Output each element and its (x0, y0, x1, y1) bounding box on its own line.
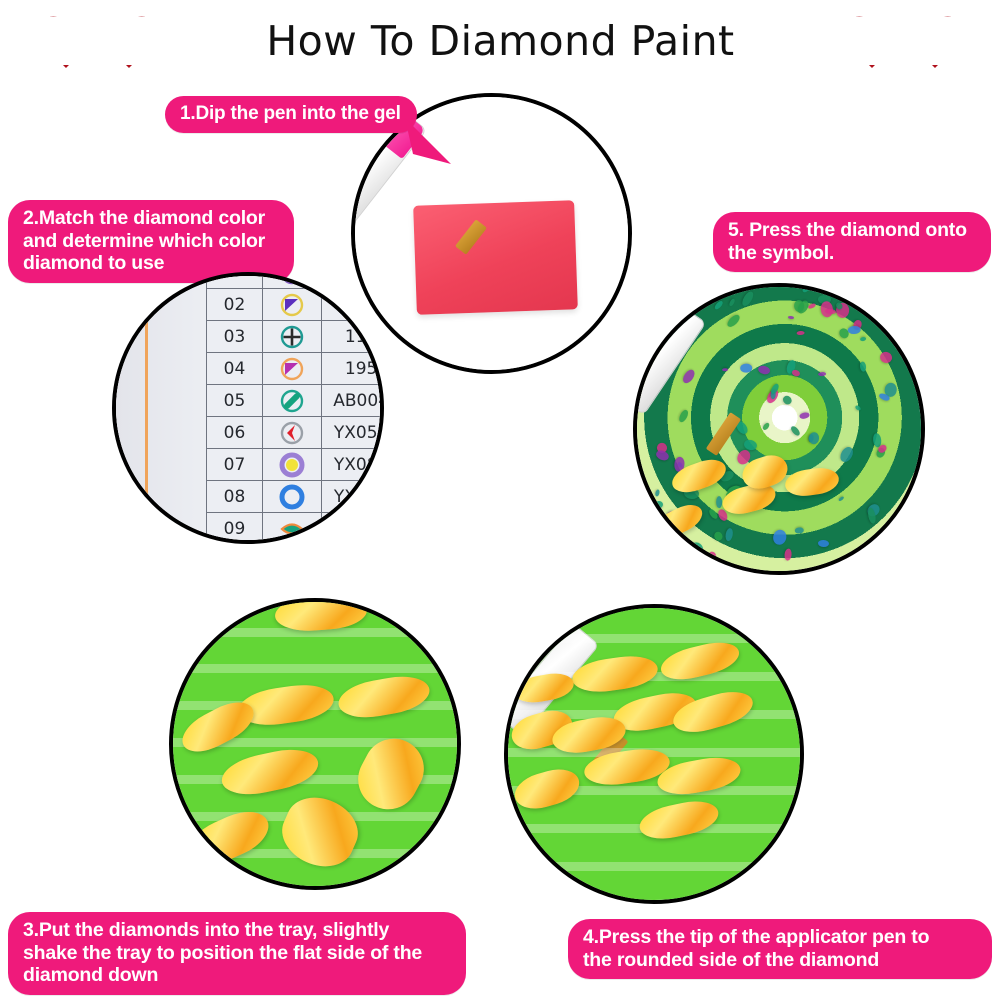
chart-cell-code: 195 (322, 353, 384, 385)
rhinestone (903, 515, 910, 523)
diamond-gem (218, 743, 322, 801)
step-2-label-line-1: 2.Match the diamond color (23, 207, 279, 230)
rhinestone (655, 489, 660, 497)
rhinestone (707, 507, 718, 519)
step-4-label-line-2: the rounded side of the diamond (583, 949, 977, 972)
step-3-label-line-3: diamond down (23, 964, 451, 987)
step-1-label-text: 1.Dip the pen into the gel (180, 103, 401, 124)
canvas-guide-line (145, 276, 148, 540)
rhinestone (797, 331, 805, 335)
chart-cell-code: 111 (322, 321, 384, 353)
rhinestone (790, 424, 802, 436)
rhinestone (808, 303, 817, 310)
rhinestone (860, 361, 867, 372)
triangle-icon (279, 356, 305, 382)
rhinestone (725, 527, 734, 541)
rhinestone (795, 527, 804, 534)
step-4-photo (504, 604, 804, 904)
color-chart-row: 04195 (206, 353, 384, 385)
chart-cell-code: YX058 (322, 417, 384, 449)
rhinestone (715, 496, 721, 508)
rhinestone (791, 369, 800, 377)
step-2-label: 2.Match the diamond color and determine … (8, 200, 294, 283)
chart-cell-code: YX083 (322, 449, 384, 481)
step-2-label-line-2: and determine which color (23, 230, 279, 253)
chart-cell-code: 093 (322, 289, 384, 321)
step-1-photo (351, 93, 632, 374)
diamond-gem (510, 763, 583, 814)
rhinestone (713, 530, 724, 541)
rhinestone (820, 300, 834, 317)
diamond-gem (236, 681, 336, 730)
filled-dot-icon (279, 452, 305, 478)
page-title: How To Diamond Paint (0, 17, 1001, 65)
rhinestone (655, 449, 671, 462)
pen-body (633, 305, 706, 416)
step-1-pointer (405, 118, 455, 168)
diamond-tray (508, 608, 800, 900)
step-4-label-line-1: 4.Press the tip of the applicator pen to (583, 926, 977, 949)
rhinestone (800, 412, 811, 420)
color-chart-row: 08YX106 (206, 481, 384, 513)
chart-cell-code: YX125 (322, 513, 384, 545)
chart-cell-number: 08 (206, 481, 262, 513)
rhinestone (655, 501, 664, 509)
step-3-photo (169, 598, 461, 890)
rhinestone (680, 368, 696, 386)
chart-cell-number: 04 (206, 353, 262, 385)
rhinestone (782, 395, 794, 407)
tray-groove (504, 900, 804, 904)
rhinestone (788, 316, 794, 319)
diamond-gem (637, 796, 722, 844)
diamond-gem (335, 671, 432, 722)
rhinestone (818, 539, 829, 547)
ring-icon (279, 484, 305, 510)
tray-groove (169, 664, 461, 673)
rhinestone (848, 326, 861, 335)
step-5-label-line-1: 5. Press the diamond onto (728, 219, 976, 242)
color-chart-row: 06YX058 (206, 417, 384, 449)
chart-cell-symbol (263, 513, 322, 545)
leaf-icon (279, 516, 305, 542)
rhinestone (740, 364, 752, 373)
chart-cell-symbol (263, 481, 322, 513)
chart-cell-symbol (263, 272, 322, 289)
chart-cell-symbol (263, 449, 322, 481)
step-1-label: 1.Dip the pen into the gel (165, 96, 417, 133)
color-chart-row: 05AB004 (206, 385, 384, 417)
chart-cell-code: YX106 (322, 481, 384, 513)
chart-cell-symbol (263, 417, 322, 449)
diamond-tray (173, 602, 457, 886)
chart-cell-symbol (263, 385, 322, 417)
tray-groove (169, 886, 461, 890)
rhinestone (879, 351, 895, 366)
step-3-label-line-1: 3.Put the diamonds into the tray, slight… (23, 919, 451, 942)
step-5-label: 5. Press the diamond onto the symbol. (713, 212, 991, 272)
rhinestone (841, 293, 848, 301)
chart-cell-number: 03 (206, 321, 262, 353)
step-5-label-line-2: the symbol. (728, 242, 976, 265)
page-title-text: How To Diamond Paint (252, 17, 748, 65)
step-3-label-line-2: shake the tray to position the flat side… (23, 942, 451, 965)
color-chart-row: 09YX125 (206, 513, 384, 545)
step-5-photo (633, 283, 925, 575)
step-4-label: 4.Press the tip of the applicator pen to… (568, 919, 992, 979)
chart-cell-symbol (263, 289, 322, 321)
rhinestone (784, 548, 792, 561)
chart-cell-number: 05 (206, 385, 262, 417)
rhinestone (899, 543, 909, 554)
page-header: How To Diamond Paint (0, 0, 1001, 80)
pen-tip (705, 412, 740, 456)
rhinestone (714, 300, 724, 310)
rhinestone (643, 297, 657, 313)
diamond-gem (783, 465, 840, 498)
gel-pad (413, 201, 578, 316)
rhinestone (761, 422, 770, 431)
tray-groove (504, 604, 804, 605)
rhinestone (809, 432, 820, 444)
rhinestone (818, 371, 826, 376)
rhinestone (728, 298, 736, 307)
tray-groove (504, 862, 804, 871)
canvas-margin (116, 276, 206, 540)
chart-cell-number: 06 (206, 417, 262, 449)
chart-cell-code: AB004 (322, 385, 384, 417)
chart-cell-number: 09 (206, 513, 262, 545)
color-chart-table: 02802093031110419505AB00406YX05807YX0830… (206, 272, 384, 544)
rhinestone (837, 495, 844, 501)
chart-cell-symbol (263, 321, 322, 353)
step-2-photo: 02802093031110419505AB00406YX05807YX0830… (112, 272, 384, 544)
tray-groove (169, 598, 461, 600)
step-3-label: 3.Put the diamonds into the tray, slight… (8, 912, 466, 995)
rhinestone (688, 542, 703, 558)
rhinestone (678, 409, 690, 424)
color-chart: 02802093031110419505AB00406YX05807YX0830… (116, 276, 380, 540)
chart-cell-number: 02 (206, 289, 262, 321)
mandala-canvas (637, 287, 921, 571)
rhinestone (839, 445, 856, 464)
rhinestone (708, 551, 717, 560)
tray-groove (504, 634, 804, 643)
triangle-icon (279, 292, 305, 318)
rhinestone (771, 529, 788, 547)
rhinestone (740, 290, 755, 308)
rhinestone (726, 312, 742, 328)
plus-icon (279, 324, 305, 350)
rhinestone (722, 368, 728, 372)
rhinestone (801, 285, 810, 294)
color-chart-row: 03111 (206, 321, 384, 353)
slash-icon (279, 388, 305, 414)
color-chart-row: 07YX083 (206, 449, 384, 481)
chart-cell-number: 07 (206, 449, 262, 481)
arrow-left-icon (279, 420, 305, 446)
rhinestone (859, 336, 866, 341)
rhinestone (854, 404, 861, 411)
rhinestone (758, 364, 772, 375)
diamond-gem (272, 787, 366, 877)
rhinestone (714, 289, 727, 298)
color-chart-row: 02093 (206, 289, 384, 321)
chart-cell-symbol (263, 353, 322, 385)
rhinestone (901, 322, 917, 333)
